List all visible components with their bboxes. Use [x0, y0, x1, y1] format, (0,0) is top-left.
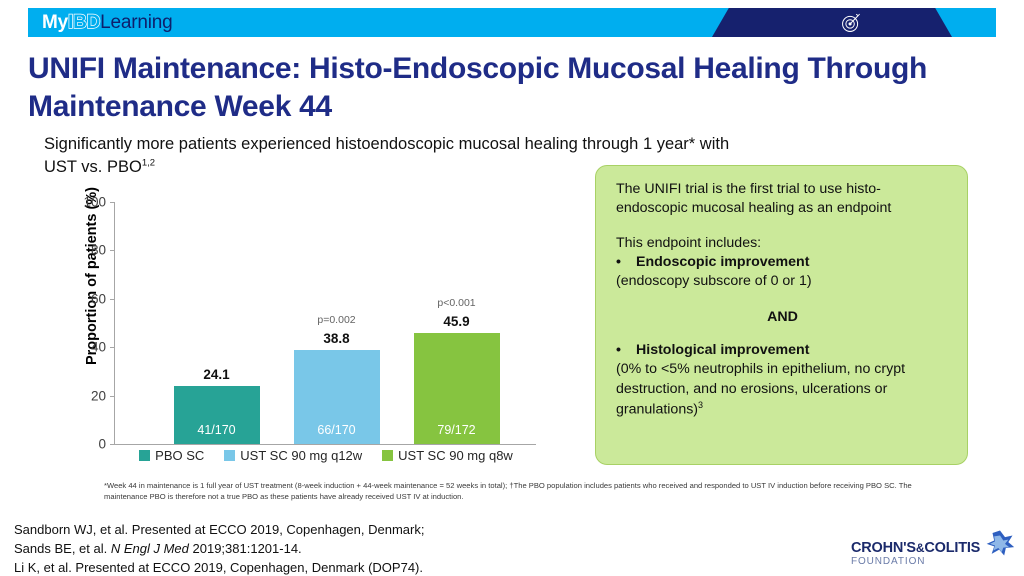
chart-bar[interactable]: 24.141/170 — [174, 386, 260, 444]
citation-line-3: Li K, et al. Presented at ECCO 2019, Cop… — [14, 559, 634, 576]
y-axis-tick-mark — [110, 444, 115, 445]
crohns-colitis-foundation-logo: CROHN'S&COLITIS FOUNDATION — [851, 536, 1011, 572]
header-banner: MyIBDLearning — [28, 8, 996, 37]
brand-my-text: My — [42, 12, 68, 33]
citation-line-1: Sandborn WJ, et al. Presented at ECCO 20… — [14, 521, 634, 540]
citations-block: Sandborn WJ, et al. Presented at ECCO 20… — [14, 521, 634, 576]
chart-bar-group[interactable]: 24.141/170 — [174, 202, 260, 444]
legend-color-swatch — [382, 450, 393, 461]
callout-bullet-1-detail: (endoscopy subscore of 0 or 1) — [616, 272, 949, 291]
brand-logo: MyIBDLearning — [42, 12, 172, 34]
chart-legend: PBO SCUST SC 90 mg q12wUST SC 90 mg q8w — [114, 448, 538, 463]
legend-item[interactable]: UST SC 90 mg q8w — [382, 448, 513, 463]
legend-label: PBO SC — [155, 448, 204, 463]
callout-spacer — [616, 219, 949, 234]
bar-ratio-label: 41/170 — [174, 423, 260, 437]
brand-learning-text: Learning — [100, 12, 172, 33]
chart-bar-group[interactable]: 45.9p<0.00179/172 — [414, 202, 500, 444]
callout-paragraph-1: The UNIFI trial is the first trial to us… — [616, 180, 949, 219]
foundation-name-part2: COLITIS — [924, 540, 980, 556]
footnote-text: *Week 44 in maintenance is 1 full year o… — [104, 480, 928, 502]
slide-root: MyIBDLearning UNIFI Maintenance: Histo-E… — [0, 0, 1024, 576]
brand-ibd-text: IBD — [68, 12, 100, 33]
bar-chart: Proportion of patients (%) 24.141/17038.… — [44, 196, 554, 481]
y-axis-tick-mark — [110, 347, 115, 348]
legend-label: UST SC 90 mg q8w — [398, 448, 513, 463]
page-title: UNIFI Maintenance: Histo-Endoscopic Muco… — [28, 50, 968, 127]
chart-bar-group[interactable]: 38.8p=0.00266/170 — [294, 202, 380, 444]
callout-paragraph-2: This endpoint includes: — [616, 234, 949, 253]
bullet-dot-icon: • — [616, 253, 636, 272]
bar-value-label: 38.8 — [294, 331, 380, 346]
bar-ratio-label: 79/172 — [414, 423, 500, 437]
subtitle-reference-marker: 1,2 — [142, 158, 155, 169]
endpoint-callout-box: The UNIFI trial is the first trial to us… — [595, 165, 968, 465]
legend-item[interactable]: UST SC 90 mg q12w — [224, 448, 362, 463]
legend-item[interactable]: PBO SC — [139, 448, 204, 463]
y-axis-tick-mark — [110, 396, 115, 397]
target-icon — [840, 12, 862, 34]
legend-label: UST SC 90 mg q12w — [240, 448, 362, 463]
y-axis-tick-mark — [110, 202, 115, 203]
y-axis-tick-mark — [110, 250, 115, 251]
citation-2-suffix: 2019;381:1201-14. — [189, 541, 302, 556]
chart-plot-area: 24.141/17038.8p=0.00266/17045.9p<0.00179… — [114, 202, 536, 445]
foundation-starburst-icon — [983, 528, 1017, 558]
foundation-logo-subtitle: FOUNDATION — [851, 556, 925, 567]
citation-line-2: Sands BE, et al. N Engl J Med 2019;381:1… — [14, 540, 634, 559]
callout-reference-marker: 3 — [698, 400, 703, 410]
citation-2-journal: N Engl J Med — [111, 541, 189, 556]
callout-and-label: AND — [616, 308, 949, 327]
chart-bar[interactable]: 45.9p<0.00179/172 — [414, 333, 500, 444]
callout-bullet-1: •Endoscopic improvement — [616, 253, 949, 272]
subtitle-line-2: UST vs. PBO — [44, 158, 142, 176]
callout-bullet-2-detail: (0% to <5% neutrophils in epithelium, no… — [616, 360, 949, 420]
callout-bullet-2-label: Histological improvement — [636, 342, 809, 358]
bar-value-label: 45.9 — [414, 314, 500, 329]
bar-value-label: 24.1 — [174, 367, 260, 382]
callout-bullet-2-detail-text: (0% to <5% neutrophils in epithelium, no… — [616, 361, 905, 417]
callout-bullet-2: •Histological improvement — [616, 341, 949, 360]
legend-color-swatch — [224, 450, 235, 461]
bar-ratio-label: 66/170 — [294, 423, 380, 437]
citation-2-prefix: Sands BE, et al. — [14, 541, 111, 556]
foundation-name-part1: CROHN'S — [851, 540, 916, 556]
y-axis-tick-mark — [110, 299, 115, 300]
bar-p-value-label: p<0.001 — [414, 297, 500, 309]
chart-bars-container: 24.141/17038.8p=0.00266/17045.9p<0.00179… — [115, 202, 536, 444]
callout-bullet-1-label: Endoscopic improvement — [636, 254, 809, 270]
chart-bar[interactable]: 38.8p=0.00266/170 — [294, 350, 380, 444]
bullet-dot-icon-2: • — [616, 341, 636, 360]
legend-color-swatch — [139, 450, 150, 461]
bar-p-value-label: p=0.002 — [294, 314, 380, 326]
subtitle-line-1: Significantly more patients experienced … — [44, 135, 729, 153]
header-trapezoid — [712, 8, 952, 37]
foundation-logo-name: CROHN'S&COLITIS — [851, 540, 980, 556]
